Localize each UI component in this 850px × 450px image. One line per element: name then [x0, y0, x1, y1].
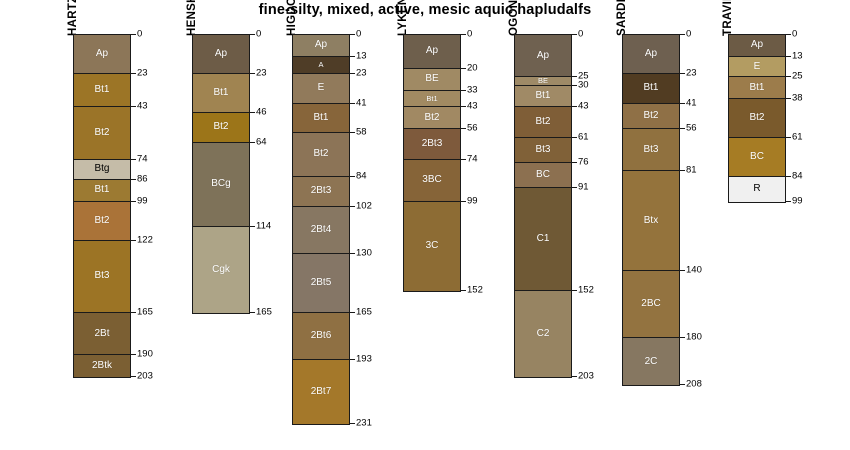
- horizon-label: Ap: [315, 40, 327, 50]
- soil-horizon[interactable]: Bt2: [193, 113, 249, 143]
- horizon-label: Bt1: [94, 185, 109, 195]
- depth-tick-label: 0: [467, 29, 472, 39]
- horizon-label: 2BC: [641, 299, 660, 309]
- horizon-stack: ApBt1Bt2BtgBt1Bt2Bt32Bt2Btk: [73, 34, 131, 378]
- depth-tick-label: 208: [686, 380, 702, 390]
- depth-tick: [572, 137, 577, 138]
- horizon-label: 2Bt6: [311, 331, 332, 341]
- depth-tick-label: 99: [467, 196, 478, 206]
- horizon-label: A: [318, 61, 323, 69]
- horizon-label: Bt1: [426, 95, 437, 103]
- depth-tick: [786, 76, 791, 77]
- depth-tick: [680, 103, 685, 104]
- depth-tick-label: 74: [137, 154, 148, 164]
- horizon-label: Bt2: [535, 117, 550, 127]
- horizon-label: C1: [537, 234, 550, 244]
- depth-tick-label: 231: [356, 418, 372, 428]
- soil-horizon[interactable]: Cgk: [193, 227, 249, 313]
- depth-tick: [131, 73, 136, 74]
- profile-name-label: SARDINIA: [616, 0, 628, 36]
- horizon-label: Ap: [751, 40, 763, 50]
- depth-tick-label: 91: [578, 183, 589, 193]
- soil-horizon[interactable]: 2Bt3: [404, 129, 460, 159]
- horizon-label: Bt2: [424, 113, 439, 123]
- depth-tick-label: 25: [792, 71, 803, 81]
- depth-tick: [350, 132, 355, 133]
- soil-horizon[interactable]: A: [293, 57, 349, 74]
- profile-name-label: HENSHAW: [186, 0, 198, 36]
- horizon-label: R: [753, 184, 760, 194]
- depth-tick-label: 203: [578, 371, 594, 381]
- soil-horizon[interactable]: Bt2: [623, 104, 679, 129]
- soil-horizon[interactable]: BCg: [193, 143, 249, 227]
- horizon-label: Bt3: [535, 145, 550, 155]
- depth-tick-label: 20: [467, 63, 478, 73]
- horizon-label: Bt2: [313, 149, 328, 159]
- depth-tick-label: 165: [256, 307, 272, 317]
- depth-tick-label: 99: [792, 196, 803, 206]
- horizon-label: 2C: [645, 357, 658, 367]
- depth-tick-label: 46: [256, 107, 267, 117]
- horizon-label: 2Bt3: [422, 139, 443, 149]
- horizon-label: Bt1: [213, 88, 228, 98]
- depth-tick-label: 165: [137, 307, 153, 317]
- depth-tick: [572, 76, 577, 77]
- profile-name-label: HIGDON: [286, 0, 298, 36]
- soil-horizon[interactable]: Bt2: [729, 99, 785, 138]
- depth-tick: [350, 423, 355, 424]
- soil-horizon[interactable]: Bt1: [729, 77, 785, 99]
- horizon-label: 3C: [426, 241, 439, 251]
- horizon-stack: ApBEBt1Bt22Bt33BC3C: [403, 34, 461, 292]
- depth-tick-label: 13: [356, 51, 367, 61]
- depth-tick: [461, 159, 466, 160]
- depth-tick: [786, 34, 791, 35]
- soil-horizon[interactable]: Bt1: [74, 74, 130, 108]
- horizon-label: BC: [750, 152, 764, 162]
- soil-horizon[interactable]: Bt2: [293, 133, 349, 177]
- soil-horizon[interactable]: Ap: [515, 35, 571, 77]
- soil-horizon[interactable]: Bt2: [515, 107, 571, 137]
- depth-tick: [786, 56, 791, 57]
- depth-tick: [250, 226, 255, 227]
- horizon-label: Bt1: [535, 91, 550, 101]
- depth-tick-label: 41: [356, 98, 367, 108]
- depth-tick: [680, 73, 685, 74]
- horizon-label: 2Bt7: [311, 387, 332, 397]
- depth-tick: [350, 73, 355, 74]
- horizon-label: Btx: [644, 216, 658, 226]
- depth-tick-label: 190: [137, 349, 153, 359]
- depth-tick-label: 23: [256, 68, 267, 78]
- depth-tick: [350, 359, 355, 360]
- depth-tick-label: 33: [467, 85, 478, 95]
- depth-tick-label: 140: [686, 265, 702, 275]
- horizon-label: 2Btk: [92, 361, 112, 371]
- horizon-label: C2: [537, 329, 550, 339]
- depth-tick-label: 0: [792, 29, 797, 39]
- depth-tick: [350, 253, 355, 254]
- soil-horizon[interactable]: Bt1: [623, 74, 679, 104]
- depth-tick-label: 58: [356, 127, 367, 137]
- depth-tick: [250, 73, 255, 74]
- horizon-label: BCg: [211, 179, 230, 189]
- horizon-label: Bt1: [313, 113, 328, 123]
- horizon-stack: ApBt1Bt2BCgCgk: [192, 34, 250, 314]
- depth-tick-label: 99: [137, 196, 148, 206]
- depth-tick-label: 81: [686, 166, 697, 176]
- depth-tick: [350, 312, 355, 313]
- horizon-label: Ap: [645, 49, 657, 59]
- depth-tick: [131, 240, 136, 241]
- profile-name-label: OGONTZ: [508, 0, 520, 36]
- horizon-label: E: [318, 83, 325, 93]
- soil-horizon[interactable]: Ap: [74, 35, 130, 74]
- soil-horizon[interactable]: Bt1: [293, 104, 349, 133]
- depth-tick-label: 0: [137, 29, 142, 39]
- horizon-label: Bt2: [94, 216, 109, 226]
- soil-horizon[interactable]: Btg: [74, 160, 130, 180]
- depth-tick: [680, 128, 685, 129]
- depth-tick: [131, 354, 136, 355]
- depth-tick: [350, 56, 355, 57]
- soil-horizon[interactable]: Bt3: [515, 138, 571, 163]
- depth-tick-label: 0: [356, 29, 361, 39]
- depth-tick-label: 43: [578, 102, 589, 112]
- depth-tick-label: 43: [137, 102, 148, 112]
- depth-tick: [572, 187, 577, 188]
- depth-tick-label: 56: [686, 124, 697, 134]
- depth-tick: [250, 312, 255, 313]
- depth-tick-label: 114: [256, 221, 271, 231]
- depth-tick-label: 102: [356, 201, 372, 211]
- depth-tick: [461, 106, 466, 107]
- depth-tick: [131, 34, 136, 35]
- depth-tick: [131, 201, 136, 202]
- soil-horizon[interactable]: 2Bt7: [293, 360, 349, 424]
- horizon-stack: ApEBt1Bt2BCR: [728, 34, 786, 203]
- soil-horizon[interactable]: Bt1: [515, 86, 571, 108]
- depth-tick: [461, 290, 466, 291]
- soil-horizon[interactable]: C2: [515, 291, 571, 377]
- soil-horizon[interactable]: Bt2: [74, 202, 130, 241]
- horizon-label: 2Bt: [94, 329, 109, 339]
- depth-tick-label: 74: [467, 154, 478, 164]
- horizon-label: 2Bt5: [311, 278, 332, 288]
- horizon-label: BE: [538, 77, 548, 84]
- soil-horizon[interactable]: BE: [515, 77, 571, 85]
- depth-tick-label: 122: [137, 235, 153, 245]
- horizon-label: Bt2: [213, 122, 228, 132]
- horizon-label: Bt2: [749, 113, 764, 123]
- horizon-label: Btg: [94, 164, 109, 174]
- depth-tick: [680, 34, 685, 35]
- depth-tick: [786, 201, 791, 202]
- soil-horizon[interactable]: BE: [404, 69, 460, 91]
- depth-tick-label: 76: [578, 157, 589, 167]
- profile-name-label: LYKENS: [397, 0, 409, 36]
- horizon-stack: ApBt1Bt2Bt3Btx2BC2C: [622, 34, 680, 386]
- depth-tick-label: 38: [792, 93, 803, 103]
- soil-horizon[interactable]: Ap: [404, 35, 460, 69]
- soil-horizon[interactable]: E: [729, 57, 785, 77]
- soil-horizon[interactable]: Ap: [193, 35, 249, 74]
- depth-tick-label: 56: [467, 124, 478, 134]
- depth-tick: [250, 112, 255, 113]
- depth-tick-label: 84: [356, 171, 367, 181]
- depth-tick-label: 64: [256, 137, 267, 147]
- depth-tick: [131, 106, 136, 107]
- soil-horizon[interactable]: 2Bt4: [293, 207, 349, 254]
- depth-tick: [786, 137, 791, 138]
- depth-tick-label: 30: [578, 80, 589, 90]
- depth-tick: [680, 384, 685, 385]
- depth-tick-label: 84: [792, 171, 803, 181]
- soil-horizon[interactable]: E: [293, 74, 349, 104]
- depth-tick-label: 152: [467, 285, 483, 295]
- soil-horizon[interactable]: BC: [729, 138, 785, 177]
- depth-tick: [250, 142, 255, 143]
- depth-tick-label: 61: [578, 132, 589, 142]
- depth-tick: [131, 159, 136, 160]
- soil-horizon[interactable]: 2Btk: [74, 355, 130, 377]
- depth-tick: [250, 34, 255, 35]
- soil-horizon[interactable]: Bt2: [74, 107, 130, 159]
- soil-profile-chart: fine-silty, mixed, active, mesic aquic h…: [0, 0, 850, 450]
- horizon-label: Ap: [537, 51, 549, 61]
- profile-name-label: TRAVILAH: [722, 0, 734, 36]
- depth-tick-label: 23: [686, 68, 697, 78]
- horizon-label: Ap: [215, 49, 227, 59]
- depth-tick-label: 23: [137, 68, 148, 78]
- soil-horizon[interactable]: 2C: [623, 338, 679, 385]
- soil-horizon[interactable]: 2Bt5: [293, 254, 349, 313]
- depth-tick: [680, 270, 685, 271]
- depth-tick: [131, 312, 136, 313]
- depth-tick: [680, 170, 685, 171]
- soil-horizon[interactable]: Btx: [623, 171, 679, 270]
- depth-tick-label: 13: [792, 51, 803, 61]
- horizon-label: 2Bt4: [311, 225, 332, 235]
- soil-horizon[interactable]: Ap: [293, 35, 349, 57]
- horizon-label: 3BC: [422, 175, 441, 185]
- depth-tick: [350, 103, 355, 104]
- depth-tick: [680, 337, 685, 338]
- depth-tick: [572, 376, 577, 377]
- horizon-label: Bt2: [643, 111, 658, 121]
- depth-tick: [461, 90, 466, 91]
- horizon-label: Bt1: [94, 85, 109, 95]
- soil-horizon[interactable]: 2Bt3: [293, 177, 349, 207]
- soil-horizon[interactable]: Ap: [623, 35, 679, 74]
- soil-horizon[interactable]: Bt3: [74, 241, 130, 313]
- depth-tick-label: 43: [467, 102, 478, 112]
- horizon-label: 2Bt3: [311, 186, 332, 196]
- depth-tick-label: 23: [356, 68, 367, 78]
- depth-tick: [131, 376, 136, 377]
- depth-tick: [350, 206, 355, 207]
- horizon-label: Bt2: [94, 128, 109, 138]
- soil-horizon[interactable]: 3BC: [404, 160, 460, 202]
- depth-tick: [461, 128, 466, 129]
- horizon-label: Bt3: [94, 271, 109, 281]
- horizon-stack: ApAEBt1Bt22Bt32Bt42Bt52Bt62Bt7: [292, 34, 350, 425]
- profile-name-label: HARTZ: [67, 0, 79, 36]
- depth-tick-label: 41: [686, 98, 697, 108]
- soil-horizon[interactable]: Bt1: [404, 91, 460, 108]
- soil-horizon[interactable]: 2Bt: [74, 313, 130, 355]
- soil-horizon[interactable]: C1: [515, 188, 571, 291]
- soil-horizon[interactable]: 2BC: [623, 271, 679, 338]
- horizon-label: BE: [425, 74, 438, 84]
- depth-tick: [572, 34, 577, 35]
- depth-tick-label: 0: [578, 29, 583, 39]
- depth-tick-label: 0: [256, 29, 261, 39]
- depth-tick-label: 61: [792, 132, 803, 142]
- horizon-label: Ap: [426, 46, 438, 56]
- soil-horizon[interactable]: Bt1: [74, 180, 130, 202]
- depth-tick: [350, 176, 355, 177]
- depth-tick-label: 0: [686, 29, 691, 39]
- depth-tick: [461, 68, 466, 69]
- depth-tick-label: 130: [356, 248, 372, 258]
- horizon-label: Cgk: [212, 265, 230, 275]
- soil-horizon[interactable]: 2Bt6: [293, 313, 349, 360]
- depth-tick: [350, 34, 355, 35]
- depth-tick: [786, 98, 791, 99]
- depth-tick-label: 152: [578, 285, 594, 295]
- depth-tick-label: 165: [356, 307, 372, 317]
- depth-tick-label: 86: [137, 174, 148, 184]
- horizon-label: BC: [536, 170, 550, 180]
- horizon-label: E: [754, 62, 761, 72]
- depth-tick: [461, 201, 466, 202]
- depth-tick-label: 180: [686, 333, 702, 343]
- horizon-label: Bt1: [643, 83, 658, 93]
- depth-tick: [572, 162, 577, 163]
- depth-tick: [572, 85, 577, 86]
- depth-tick: [461, 34, 466, 35]
- depth-tick: [572, 290, 577, 291]
- soil-horizon[interactable]: 3C: [404, 202, 460, 291]
- depth-tick-label: 193: [356, 354, 372, 364]
- depth-tick: [572, 106, 577, 107]
- depth-tick: [131, 179, 136, 180]
- soil-horizon[interactable]: BC: [515, 163, 571, 188]
- soil-horizon[interactable]: Bt3: [623, 129, 679, 171]
- horizon-label: Bt1: [749, 83, 764, 93]
- horizon-label: Ap: [96, 49, 108, 59]
- soil-horizon[interactable]: R: [729, 177, 785, 202]
- soil-horizon[interactable]: Bt1: [193, 74, 249, 113]
- soil-horizon[interactable]: Ap: [729, 35, 785, 57]
- horizon-label: Bt3: [643, 145, 658, 155]
- depth-tick: [786, 176, 791, 177]
- horizon-stack: ApBEBt1Bt2Bt3BCC1C2: [514, 34, 572, 378]
- depth-tick-label: 203: [137, 371, 153, 381]
- soil-horizon[interactable]: Bt2: [404, 107, 460, 129]
